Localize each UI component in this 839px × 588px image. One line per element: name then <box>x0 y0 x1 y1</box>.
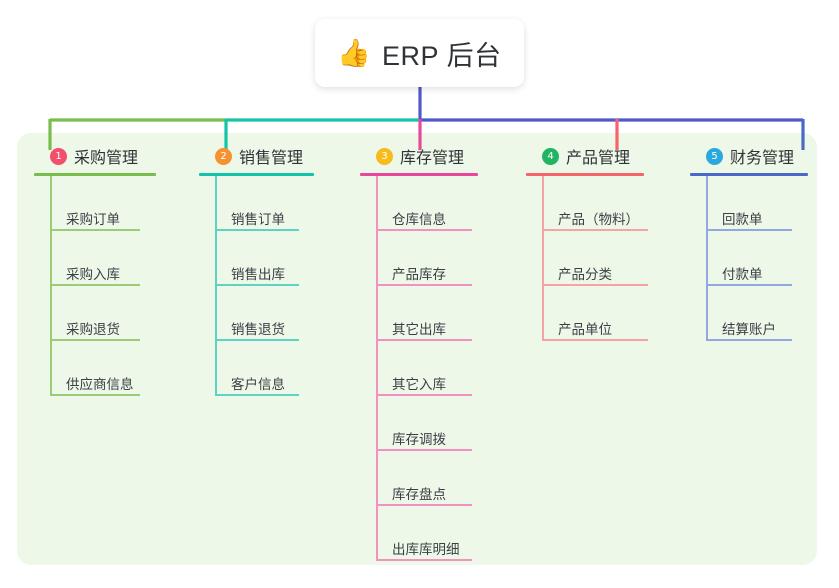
list-item-label: 采购入库 <box>66 263 120 286</box>
list-item[interactable]: 产品分类 <box>526 231 676 286</box>
list-item[interactable]: 其它入库 <box>360 341 510 396</box>
column-badge-icon: 5 <box>706 148 723 165</box>
column-header-2[interactable]: 2销售管理 <box>199 143 349 169</box>
list-item-rule <box>376 559 472 561</box>
list-item-label: 销售订单 <box>231 208 285 231</box>
column-1: 1采购管理采购订单采购入库采购退货供应商信息 <box>34 143 184 396</box>
list-item[interactable]: 采购订单 <box>34 176 184 231</box>
column-badge-icon: 4 <box>542 148 559 165</box>
list-item-label: 其它出库 <box>392 318 446 341</box>
column-title: 产品管理 <box>566 144 630 168</box>
list-item-rule <box>706 339 792 341</box>
thumbs-up-icon: 👍 <box>337 40 371 67</box>
column-header-4[interactable]: 4产品管理 <box>526 143 676 169</box>
column-items: 产品（物料）产品分类产品单位 <box>526 176 676 341</box>
list-item[interactable]: 库存盘点 <box>360 451 510 506</box>
list-item-label: 库存调拨 <box>392 428 446 451</box>
list-item[interactable]: 销售出库 <box>199 231 349 286</box>
column-items: 仓库信息产品库存其它出库其它入库库存调拨库存盘点出库库明细 <box>360 176 510 561</box>
column-items: 回款单付款单结算账户 <box>690 176 830 341</box>
column-items: 销售订单销售出库销售退货客户信息 <box>199 176 349 396</box>
list-item[interactable]: 客户信息 <box>199 341 349 396</box>
list-item[interactable]: 产品库存 <box>360 231 510 286</box>
list-item-label: 出库库明细 <box>392 538 460 561</box>
list-item-label: 销售出库 <box>231 263 285 286</box>
column-header-3[interactable]: 3库存管理 <box>360 143 510 169</box>
list-item-label: 库存盘点 <box>392 483 446 506</box>
list-item[interactable]: 采购退货 <box>34 286 184 341</box>
list-item-label: 回款单 <box>722 208 763 231</box>
column-badge-icon: 1 <box>50 148 67 165</box>
list-item[interactable]: 销售退货 <box>199 286 349 341</box>
list-item-label: 客户信息 <box>231 373 285 396</box>
list-item-label: 产品（物料） <box>558 208 639 231</box>
column-header-1[interactable]: 1采购管理 <box>34 143 184 169</box>
column-badge-icon: 2 <box>215 148 232 165</box>
list-item-rule <box>215 394 299 396</box>
column-badge-icon: 3 <box>376 148 393 165</box>
list-item[interactable]: 回款单 <box>690 176 830 231</box>
list-item-label: 采购订单 <box>66 208 120 231</box>
list-item-label: 产品分类 <box>558 263 612 286</box>
root-node[interactable]: 👍 ERP 后台 <box>315 19 524 87</box>
column-items: 采购订单采购入库采购退货供应商信息 <box>34 176 184 396</box>
list-item-label: 产品单位 <box>558 318 612 341</box>
list-item[interactable]: 出库库明细 <box>360 506 510 561</box>
column-2: 2销售管理销售订单销售出库销售退货客户信息 <box>199 143 349 396</box>
column-5: 5财务管理回款单付款单结算账户 <box>690 143 830 341</box>
list-item-label: 其它入库 <box>392 373 446 396</box>
list-item[interactable]: 供应商信息 <box>34 341 184 396</box>
column-title: 采购管理 <box>74 144 138 168</box>
list-item[interactable]: 付款单 <box>690 231 830 286</box>
list-item[interactable]: 采购入库 <box>34 231 184 286</box>
list-item-label: 付款单 <box>722 263 763 286</box>
list-item-rule <box>542 339 648 341</box>
column-header-5[interactable]: 5财务管理 <box>690 143 830 169</box>
list-item[interactable]: 其它出库 <box>360 286 510 341</box>
list-item-rule <box>50 394 140 396</box>
list-item[interactable]: 库存调拨 <box>360 396 510 451</box>
list-item[interactable]: 产品（物料） <box>526 176 676 231</box>
list-item-label: 供应商信息 <box>66 373 134 396</box>
list-item-label: 采购退货 <box>66 318 120 341</box>
column-4: 4产品管理产品（物料）产品分类产品单位 <box>526 143 676 341</box>
list-item-label: 销售退货 <box>231 318 285 341</box>
column-title: 财务管理 <box>730 144 794 168</box>
list-item[interactable]: 仓库信息 <box>360 176 510 231</box>
column-3: 3库存管理仓库信息产品库存其它出库其它入库库存调拨库存盘点出库库明细 <box>360 143 510 561</box>
list-item[interactable]: 产品单位 <box>526 286 676 341</box>
column-title: 销售管理 <box>239 144 303 168</box>
root-title: ERP 后台 <box>382 34 502 73</box>
list-item-label: 仓库信息 <box>392 208 446 231</box>
list-item-label: 产品库存 <box>392 263 446 286</box>
mindmap-canvas: 👍 ERP 后台 1采购管理采购订单采购入库采购退货供应商信息2销售管理销售订单… <box>0 0 839 588</box>
column-title: 库存管理 <box>400 144 464 168</box>
list-item-label: 结算账户 <box>722 318 776 341</box>
list-item[interactable]: 结算账户 <box>690 286 830 341</box>
list-item[interactable]: 销售订单 <box>199 176 349 231</box>
